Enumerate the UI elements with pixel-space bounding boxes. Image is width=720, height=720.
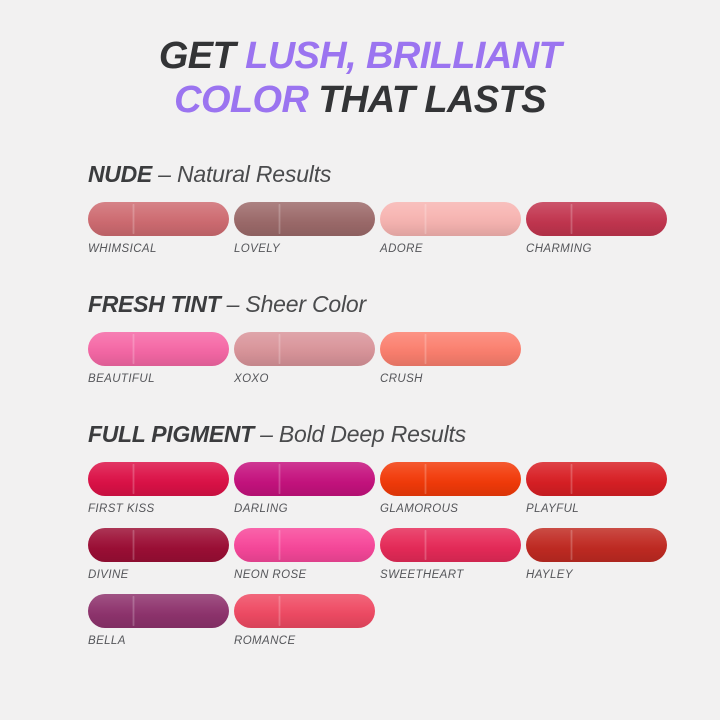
swatch-label: DIVINE	[88, 569, 229, 581]
swatch-crush[interactable]	[380, 332, 521, 366]
swatch-bella[interactable]	[88, 594, 229, 628]
swatch-neon-rose[interactable]	[234, 528, 375, 562]
section-subtitle-nude: – Natural Results	[152, 161, 331, 187]
section-name-fresh-tint: FRESH TINT	[88, 291, 220, 317]
section-title-fresh-tint: FRESH TINT – Sheer Color	[88, 291, 660, 318]
section-name-nude: NUDE	[88, 161, 152, 187]
swatch-label: BELLA	[88, 635, 229, 647]
swatch-label: LOVELY	[234, 243, 375, 255]
swatch-label: ROMANCE	[234, 635, 375, 647]
swatch-label: ADORE	[380, 243, 521, 255]
swatch-cell-adore[interactable]: ADORE	[380, 202, 521, 255]
swatch-label: XOXO	[234, 373, 375, 385]
section-fresh-tint: FRESH TINT – Sheer Color BEAUTIFUL XOXO …	[0, 291, 720, 385]
swatch-cell-xoxo[interactable]: XOXO	[234, 332, 375, 385]
section-full-pigment: FULL PIGMENT – Bold Deep Results FIRST K…	[0, 421, 720, 647]
swatch-row: WHIMSICAL LOVELY ADORE CHARMING	[88, 202, 660, 255]
shade-chart-page: GET LUSH, BRILLIANT COLOR THAT LASTS NUD…	[0, 0, 720, 720]
swatch-cell-first-kiss[interactable]: FIRST KISS	[88, 462, 229, 515]
headline-line-1: GET LUSH, BRILLIANT	[0, 34, 720, 78]
section-name-full-pigment: FULL PIGMENT	[88, 421, 254, 447]
swatch-label: GLAMOROUS	[380, 503, 521, 515]
swatch-adore[interactable]	[380, 202, 521, 236]
swatch-hayley[interactable]	[526, 528, 667, 562]
headline-that-lasts: THAT LASTS	[308, 79, 546, 121]
swatch-label: SWEETHEART	[380, 569, 521, 581]
swatch-label: BEAUTIFUL	[88, 373, 229, 385]
swatch-row: FIRST KISS DARLING GLAMOROUS PLAYFUL	[88, 462, 660, 515]
swatch-cell-bella[interactable]: BELLA	[88, 594, 229, 647]
swatch-whimsical[interactable]	[88, 202, 229, 236]
swatch-playful[interactable]	[526, 462, 667, 496]
swatch-row: BELLA ROMANCE	[88, 594, 660, 647]
section-nude: NUDE – Natural Results WHIMSICAL LOVELY …	[0, 161, 720, 255]
swatch-divine[interactable]	[88, 528, 229, 562]
swatch-darling[interactable]	[234, 462, 375, 496]
headline-line-2: COLOR THAT LASTS	[0, 78, 720, 122]
swatch-row: BEAUTIFUL XOXO CRUSH	[88, 332, 660, 385]
swatch-label: FIRST KISS	[88, 503, 229, 515]
headline-color: COLOR	[174, 79, 308, 121]
swatch-sweetheart[interactable]	[380, 528, 521, 562]
swatch-label: CHARMING	[526, 243, 667, 255]
swatch-cell-charming[interactable]: CHARMING	[526, 202, 667, 255]
swatch-cell-romance[interactable]: ROMANCE	[234, 594, 375, 647]
swatch-row: DIVINE NEON ROSE SWEETHEART HAYLEY	[88, 528, 660, 581]
swatch-cell-lovely[interactable]: LOVELY	[234, 202, 375, 255]
swatch-label: NEON ROSE	[234, 569, 375, 581]
swatch-cell-divine[interactable]: DIVINE	[88, 528, 229, 581]
swatch-cell-hayley[interactable]: HAYLEY	[526, 528, 667, 581]
headline-get: GET	[159, 35, 245, 77]
headline-lush-brilliant: LUSH, BRILLIANT	[245, 35, 561, 77]
swatch-label: HAYLEY	[526, 569, 667, 581]
section-title-nude: NUDE – Natural Results	[88, 161, 660, 188]
swatch-beautiful[interactable]	[88, 332, 229, 366]
section-title-full-pigment: FULL PIGMENT – Bold Deep Results	[88, 421, 660, 448]
swatch-label: PLAYFUL	[526, 503, 667, 515]
section-subtitle-fresh-tint: – Sheer Color	[220, 291, 366, 317]
swatch-cell-whimsical[interactable]: WHIMSICAL	[88, 202, 229, 255]
swatch-cell-glamorous[interactable]: GLAMOROUS	[380, 462, 521, 515]
swatch-cell-darling[interactable]: DARLING	[234, 462, 375, 515]
swatch-charming[interactable]	[526, 202, 667, 236]
swatch-cell-neon-rose[interactable]: NEON ROSE	[234, 528, 375, 581]
swatch-cell-playful[interactable]: PLAYFUL	[526, 462, 667, 515]
swatch-lovely[interactable]	[234, 202, 375, 236]
swatch-romance[interactable]	[234, 594, 375, 628]
swatch-cell-beautiful[interactable]: BEAUTIFUL	[88, 332, 229, 385]
swatch-cell-sweetheart[interactable]: SWEETHEART	[380, 528, 521, 581]
swatch-label: DARLING	[234, 503, 375, 515]
swatch-glamorous[interactable]	[380, 462, 521, 496]
swatch-xoxo[interactable]	[234, 332, 375, 366]
swatch-first-kiss[interactable]	[88, 462, 229, 496]
swatch-label: WHIMSICAL	[88, 243, 229, 255]
section-subtitle-full-pigment: – Bold Deep Results	[254, 421, 466, 447]
page-headline: GET LUSH, BRILLIANT COLOR THAT LASTS	[0, 0, 720, 123]
swatch-label: CRUSH	[380, 373, 521, 385]
swatch-cell-crush[interactable]: CRUSH	[380, 332, 521, 385]
